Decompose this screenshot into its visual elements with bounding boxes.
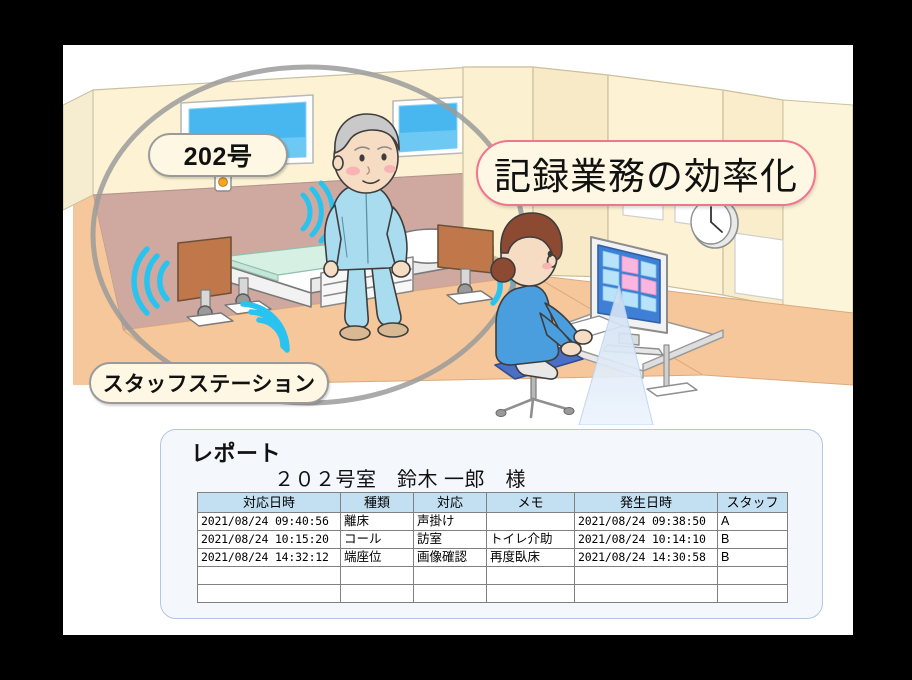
table-cell: 2021/08/24 09:40:56 [198, 513, 341, 531]
table-cell: コール [341, 531, 414, 549]
table-cell [718, 567, 788, 585]
table-cell [487, 585, 575, 603]
table-cell: 再度臥床 [487, 549, 575, 567]
table-cell: 画像確認 [414, 549, 487, 567]
column-header-response-time: 対応日時 [198, 493, 341, 513]
table-cell: B [718, 531, 788, 549]
table-row: 2021/08/24 14:32:12端座位画像確認再度臥床2021/08/24… [198, 549, 788, 567]
table-cell [575, 585, 718, 603]
report-subject: ２０２号室 鈴木 一郎 様 [274, 463, 526, 492]
staff-station-badge: スタッフステーション [89, 362, 329, 404]
table-cell [414, 567, 487, 585]
table-row: 2021/08/24 10:15:20コール訪室トイレ介助2021/08/24 … [198, 531, 788, 549]
table-cell: 2021/08/24 10:15:20 [198, 531, 341, 549]
report-card: レポート ２０２号室 鈴木 一郎 様 対応日時 種類 対応 メモ 発生日時 スタ… [160, 429, 823, 619]
table-cell: 離床 [341, 513, 414, 531]
column-header-event-time: 発生日時 [575, 493, 718, 513]
table-cell [487, 567, 575, 585]
report-title: レポート [191, 436, 281, 468]
table-body: 2021/08/24 09:40:56離床声掛け2021/08/24 09:38… [198, 513, 788, 603]
table-cell [487, 513, 575, 531]
report-table: 対応日時 種類 対応 メモ 発生日時 スタッフ 2021/08/24 09:40… [197, 492, 788, 603]
table-cell: トイレ介助 [487, 531, 575, 549]
table-cell: 2021/08/24 09:38:50 [575, 513, 718, 531]
table-cell [341, 585, 414, 603]
wall-poster [735, 233, 783, 300]
table-cell [198, 567, 341, 585]
table-cell [198, 585, 341, 603]
column-header-response: 対応 [414, 493, 487, 513]
table-cell: A [718, 513, 788, 531]
table-cell [341, 567, 414, 585]
table-cell [414, 585, 487, 603]
headline-badge: 記録業務の効率化 [476, 140, 816, 206]
table-cell: B [718, 549, 788, 567]
table-row [198, 567, 788, 585]
table-row [198, 585, 788, 603]
table-cell: 声掛け [414, 513, 487, 531]
table-cell: 2021/08/24 10:14:10 [575, 531, 718, 549]
table-cell [718, 585, 788, 603]
table-cell: 2021/08/24 14:32:12 [198, 549, 341, 567]
table-cell [575, 567, 718, 585]
table-cell: 訪室 [414, 531, 487, 549]
slide-canvas: 202号 記録業務の効率化 スタッフステーション レポート ２０２号室 鈴木 一… [63, 45, 853, 635]
column-header-type: 種類 [341, 493, 414, 513]
room-number-badge: 202号 [148, 133, 288, 177]
table-row: 2021/08/24 09:40:56離床声掛け2021/08/24 09:38… [198, 513, 788, 531]
column-header-staff: スタッフ [718, 493, 788, 513]
column-header-memo: メモ [487, 493, 575, 513]
table-cell: 2021/08/24 14:30:58 [575, 549, 718, 567]
table-cell: 端座位 [341, 549, 414, 567]
slide-stage: 202号 記録業務の効率化 スタッフステーション レポート ２０２号室 鈴木 一… [0, 0, 912, 680]
table-header-row: 対応日時 種類 対応 メモ 発生日時 スタッフ [198, 493, 788, 513]
